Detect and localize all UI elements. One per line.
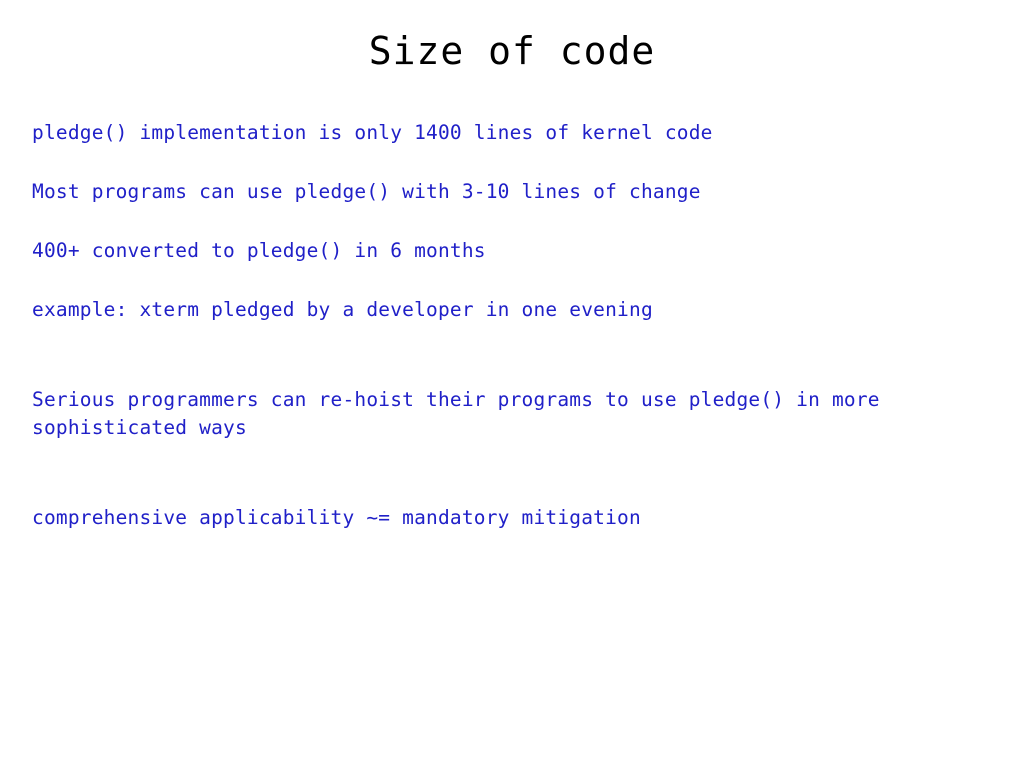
slide-bullet-xterm-example: example: xterm pledged by a developer in… <box>32 296 976 324</box>
slide-title: Size of code <box>0 28 1024 74</box>
slide-bullet-lines-of-change: Most programs can use pledge() with 3-10… <box>32 178 976 206</box>
slide-bullet-comprehensive-applicability: comprehensive applicability ~= mandatory… <box>32 504 976 532</box>
slide-bullet-converted-count: 400+ converted to pledge() in 6 months <box>32 237 976 265</box>
slide-bullet-re-hoist-paragraph: Serious programmers can re-hoist their p… <box>32 386 976 442</box>
presentation-slide: Size of code pledge() implementation is … <box>0 0 1024 768</box>
slide-bullet-pledge-implementation-size: pledge() implementation is only 1400 lin… <box>32 119 976 147</box>
